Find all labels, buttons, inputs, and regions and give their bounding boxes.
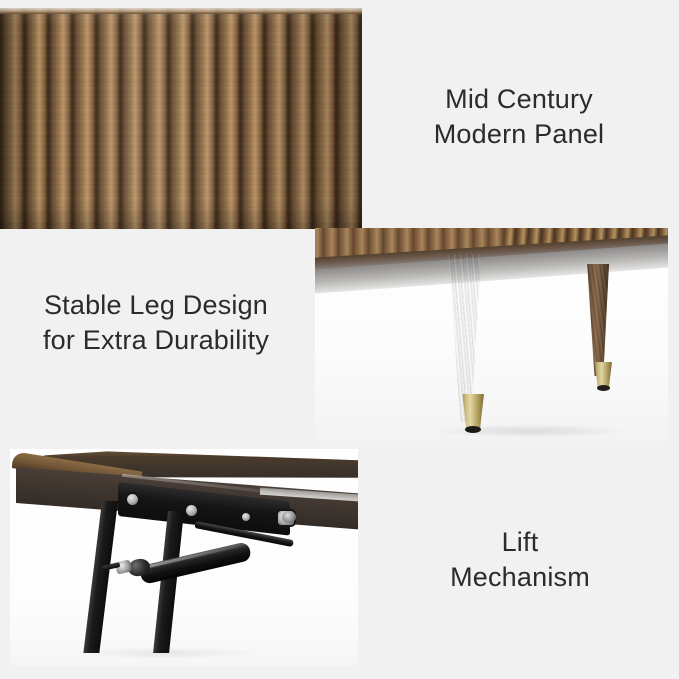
stable-legs-caption: Stable Leg Design for Extra Durability [6, 288, 306, 357]
fluted-panel-caption: Mid Century Modern Panel [369, 82, 669, 151]
gas-strut-upper-joint [282, 511, 296, 523]
fluted-panel-photo [0, 8, 362, 229]
lift-floor-shadow [70, 647, 260, 659]
hinge-rivet [242, 513, 250, 521]
feature-collage: Mid Century Modern Panel Stable Leg Desi… [0, 0, 679, 679]
stable-legs-photo [315, 228, 668, 442]
back-leg-foot-pad [597, 385, 610, 391]
lift-mechanism-caption: Lift Mechanism [380, 525, 660, 594]
hinge-rivet [127, 494, 138, 505]
panel-top-edge [0, 8, 362, 14]
hinge-rivet [186, 505, 197, 516]
panel-lighting-overlay [0, 8, 362, 229]
lift-mechanism-photo [10, 449, 358, 665]
legs-floor-shadow [435, 424, 625, 438]
